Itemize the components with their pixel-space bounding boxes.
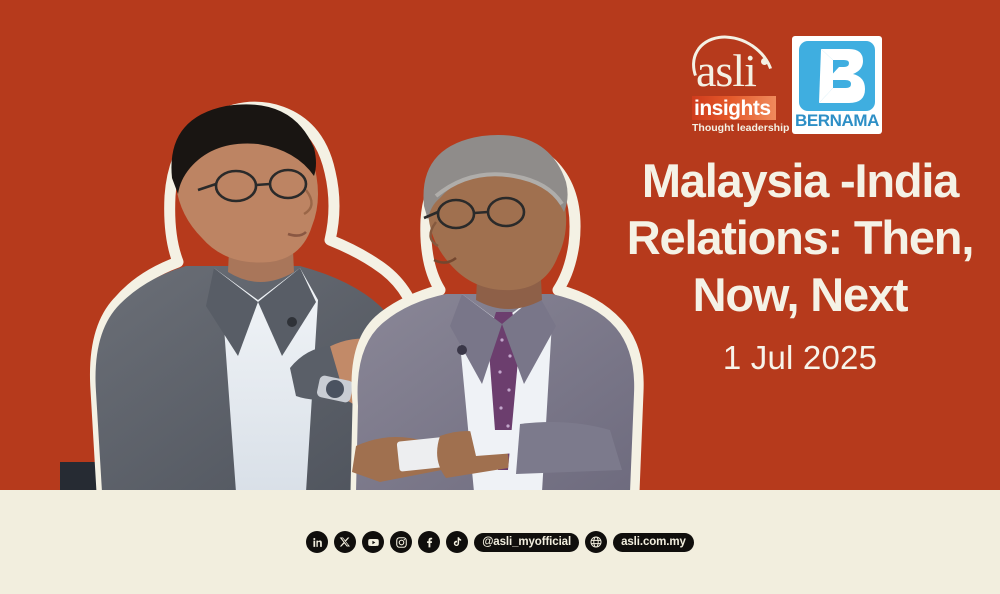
asli-insights-logo: asli insights Thought leadership — [688, 36, 780, 136]
linkedin-icon[interactable] — [306, 531, 328, 553]
page-title: Malaysia -India Relations: Then, Now, Ne… — [608, 152, 992, 323]
tiktok-icon[interactable] — [446, 531, 468, 553]
speaker-right — [352, 135, 638, 492]
bernama-monogram-icon — [799, 41, 875, 111]
asli-wordmark: asli — [696, 48, 756, 94]
bernama-wordmark: BERNAMA — [792, 111, 882, 131]
globe-icon[interactable] — [585, 531, 607, 553]
asli-dot-icon — [761, 58, 768, 65]
bernama-logo: BERNAMA — [792, 36, 882, 134]
instagram-icon[interactable] — [390, 531, 412, 553]
event-announcement-poster: asli insights Thought leadership BERNAMA… — [0, 0, 1000, 594]
social-links-row: @asli_myofficial asli.com.my — [0, 490, 1000, 594]
footer-bar: @asli_myofficial asli.com.my — [0, 490, 1000, 594]
x-icon[interactable] — [334, 531, 356, 553]
asli-tagline: Thought leadership — [692, 122, 784, 134]
speakers-illustration — [0, 0, 660, 492]
instagram-handle-pill[interactable]: @asli_myofficial — [474, 533, 579, 552]
website-pill[interactable]: asli.com.my — [613, 533, 694, 552]
logo-row: asli insights Thought leadership BERNAMA — [688, 36, 888, 138]
youtube-icon[interactable] — [362, 531, 384, 553]
asli-insights-label: insights — [692, 98, 771, 119]
facebook-icon[interactable] — [418, 531, 440, 553]
asli-insights-band: insights — [692, 96, 776, 120]
event-date: 1 Jul 2025 — [608, 338, 992, 378]
speakers-photo — [0, 0, 660, 492]
